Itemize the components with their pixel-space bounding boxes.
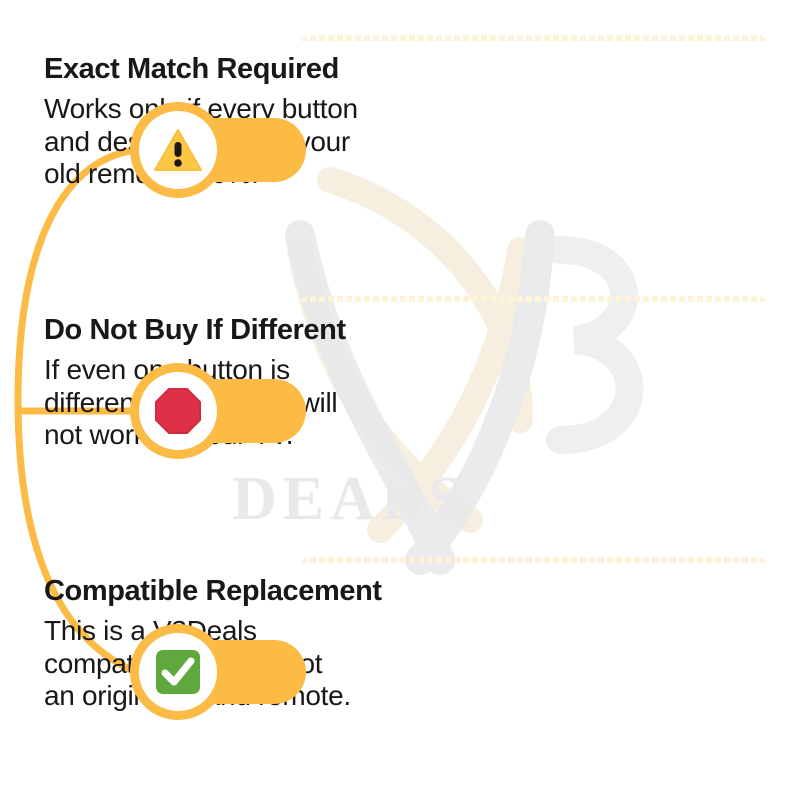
check-square-icon <box>151 645 205 699</box>
card-dashed-border <box>292 35 766 41</box>
card-1-title: Exact Match Required <box>44 53 784 85</box>
badge-exact-match-required <box>130 102 310 198</box>
badge-compatible-replacement <box>130 624 310 720</box>
warning-triangle-icon <box>151 123 205 177</box>
card-dashed-border <box>292 557 766 563</box>
infographic-canvas: DEALS Exact Match Required Works only if… <box>0 0 800 800</box>
badge-do-not-buy-if-different <box>130 363 310 459</box>
card-dashed-border <box>292 296 766 302</box>
watermark-text: DEALS <box>232 468 469 530</box>
card-2-title: Do Not Buy If Different <box>44 314 784 346</box>
stop-octagon-icon <box>151 384 205 438</box>
card-3-title: Compatible Replacement <box>44 575 784 607</box>
